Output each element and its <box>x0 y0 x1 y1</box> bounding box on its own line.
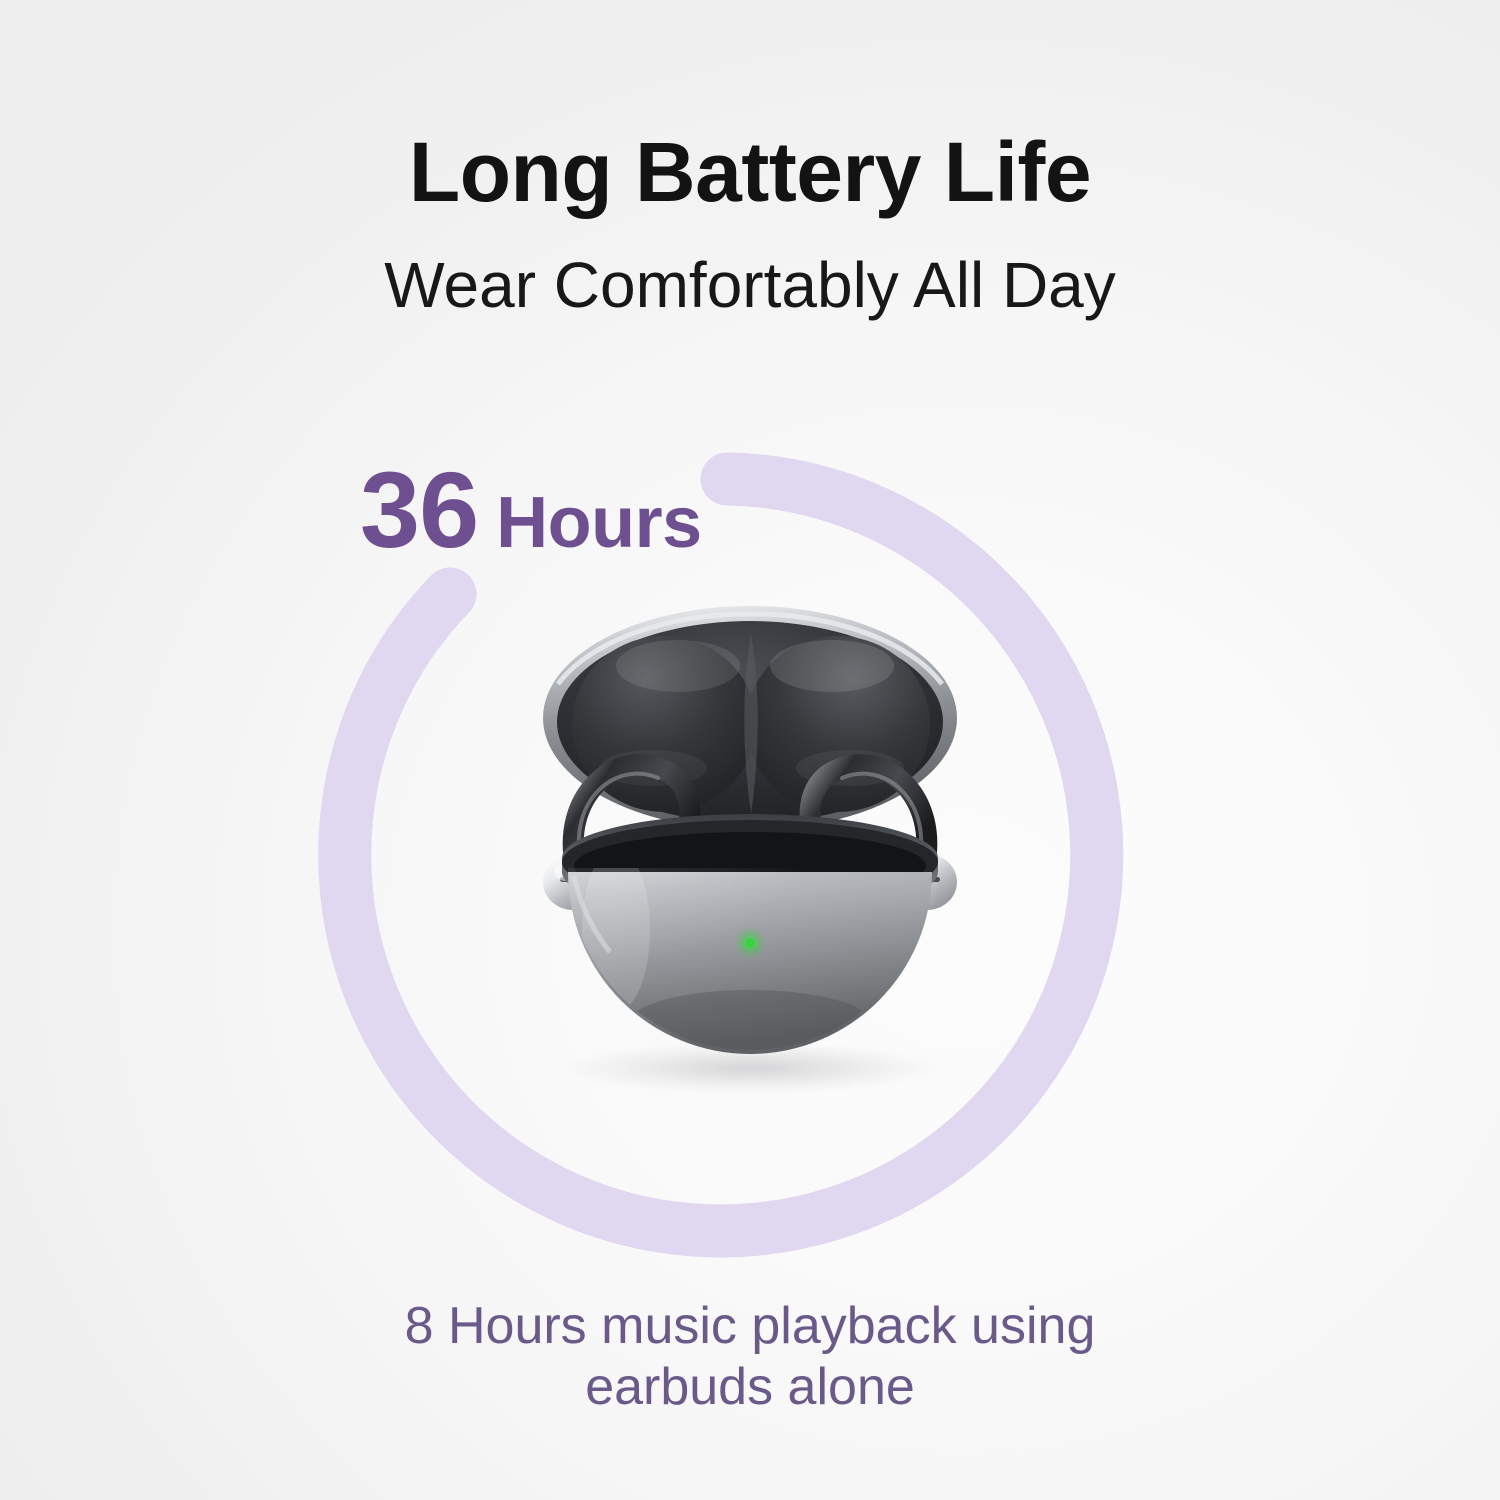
battery-caption: 8 Hours music playback using earbuds alo… <box>0 1296 1500 1419</box>
battery-stat: 36 Hours <box>360 456 702 564</box>
case-lid <box>543 606 957 830</box>
battery-caption-line-2: earbuds alone <box>0 1357 1500 1418</box>
battery-stat-unit: Hours <box>496 487 702 559</box>
battery-caption-line-1: 8 Hours music playback using <box>0 1296 1500 1357</box>
earbuds-case-illustration <box>440 600 1060 1120</box>
product-feature-banner: Long Battery Life Wear Comfortably All D… <box>0 0 1500 1500</box>
battery-stat-value: 36 <box>360 456 478 564</box>
product-image <box>440 600 1060 1120</box>
status-led <box>745 938 755 948</box>
